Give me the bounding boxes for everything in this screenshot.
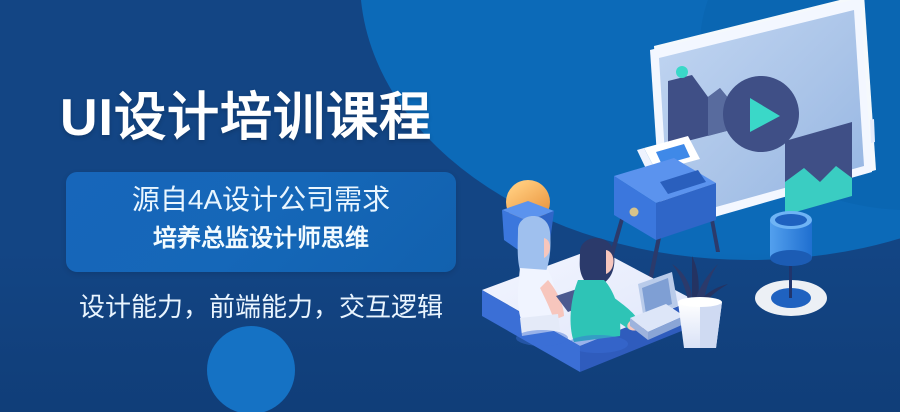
subtitle-line-1: 源自4A设计公司需求 [66, 181, 456, 219]
tagline-text: 设计能力，前端能力，交互逻辑 [66, 288, 456, 326]
banner-text-block: UI设计培训课程 源自4A设计公司需求 培养总监设计师思维 设计能力，前端能力，… [0, 0, 520, 412]
promo-banner: UI设计培训课程 源自4A设计公司需求 培养总监设计师思维 设计能力，前端能力，… [0, 0, 900, 412]
floor-lamp [755, 211, 827, 316]
page-title: UI设计培训课程 [60, 88, 432, 148]
hero-illustration [460, 0, 900, 412]
subtitle-box: 源自4A设计公司需求 培养总监设计师思维 [66, 172, 456, 272]
subtitle-line-2: 培养总监设计师思维 [66, 222, 456, 256]
potted-plant [672, 256, 728, 348]
